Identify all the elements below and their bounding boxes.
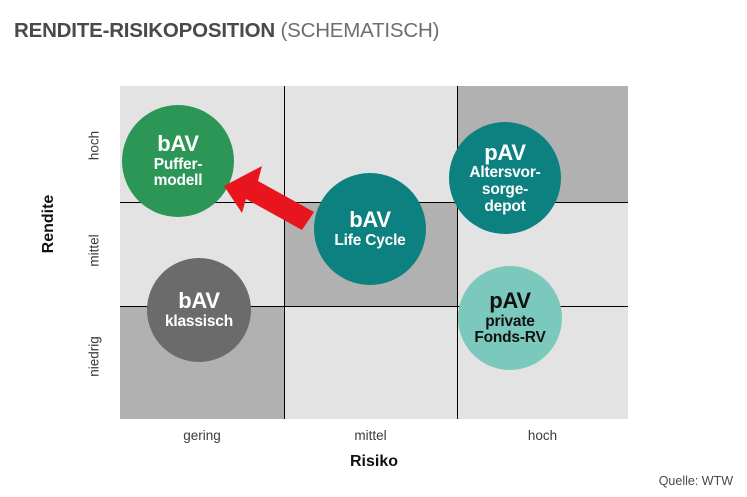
y-tick-mittel: mittel: [87, 221, 102, 281]
bubble-bav-puffermodell[interactable]: bAV Puffer- modell: [122, 105, 234, 217]
page-title: RENDITE-RISIKOPOSITION (SCHEMATISCH): [14, 19, 439, 43]
bubble-pav-private-fonds-rv[interactable]: pAV private Fonds-RV: [458, 266, 562, 370]
bubble-head: bAV: [157, 132, 198, 156]
grid-cell-mittel-niedrig: [284, 306, 457, 419]
source-note: Quelle: WTW: [659, 474, 733, 488]
bubble-bav-life-cycle[interactable]: bAV Life Cycle: [314, 173, 426, 285]
y-axis-title: Rendite: [40, 169, 58, 279]
bubble-pav-altersvorsorgedepot[interactable]: pAV Altersvor- sorge- depot: [449, 122, 561, 234]
page-title-main: RENDITE-RISIKOPOSITION: [14, 19, 275, 42]
gridline-vertical-1: [284, 86, 285, 419]
bubble-head: pAV: [489, 289, 530, 313]
x-tick-mittel: mittel: [284, 428, 457, 443]
bubble-bav-klassisch[interactable]: bAV klassisch: [147, 258, 251, 362]
bubble-sub: klassisch: [165, 314, 233, 331]
bubble-head: bAV: [349, 208, 390, 232]
x-tick-hoch: hoch: [457, 428, 628, 443]
bubble-sub: Life Cycle: [334, 233, 405, 250]
bubble-head: pAV: [484, 141, 525, 165]
y-tick-niedrig: niedrig: [87, 327, 102, 387]
bubble-sub: private Fonds-RV: [474, 314, 545, 347]
bubble-head: bAV: [178, 289, 219, 313]
y-tick-hoch: hoch: [87, 116, 102, 176]
x-axis-title: Risiko: [120, 453, 628, 471]
gridline-vertical-2: [457, 86, 458, 419]
x-tick-gering: gering: [120, 428, 284, 443]
chart-plot-area: bAV Puffer- modell bAV Life Cycle pAV Al…: [120, 86, 628, 419]
bubble-sub: Altersvor- sorge- depot: [469, 165, 540, 215]
page-title-sub: (SCHEMATISCH): [275, 19, 439, 42]
bubble-sub: Puffer- modell: [154, 157, 203, 190]
